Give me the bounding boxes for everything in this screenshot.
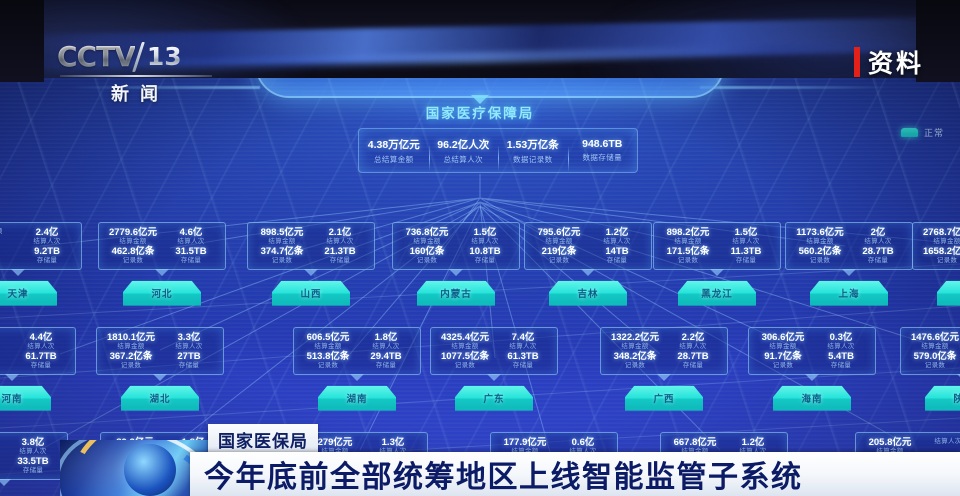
province-name-chip[interactable]: 上海 bbox=[810, 281, 888, 306]
metric-value: 462.8亿条 bbox=[105, 247, 161, 257]
province-node-card[interactable]: 亿元结算金额4.4亿结算人次亿条记录数61.7TB存储量河南 bbox=[0, 327, 76, 411]
cctv-channel-number: 13 bbox=[147, 42, 182, 71]
metric-value: 1476.6亿元 bbox=[907, 333, 960, 343]
headline-bar: 今年底前全部统筹地区上线智能监管子系统 bbox=[190, 452, 960, 496]
province-name-chip[interactable]: 湖南 bbox=[318, 386, 396, 411]
metric-label: 存储量 bbox=[163, 258, 219, 265]
metric-value: 91.7亿条 bbox=[755, 352, 811, 362]
metric-settlement-amount: 736.8亿元结算金额 bbox=[399, 228, 455, 246]
metric-value: 61.7TB bbox=[13, 352, 69, 362]
metric-value: 2.1亿 bbox=[312, 228, 368, 238]
kpi-total-settlement-visits: 96.2亿人次 总结算人次 bbox=[429, 137, 499, 165]
province-name-chip[interactable]: 广东 bbox=[455, 386, 533, 411]
metric-value: 3.8亿 bbox=[5, 438, 61, 448]
metric-settlement-amount: 898.5亿元结算金额 bbox=[254, 228, 310, 246]
metric-settlement-visits: 4.6亿结算人次 bbox=[163, 228, 219, 246]
metric-storage: 61.3TB存储量 bbox=[495, 352, 551, 370]
province-node-card[interactable]: 306.6亿元结算金额0.3亿结算人次91.7亿条记录数5.4TB存储量海南 bbox=[748, 327, 876, 411]
metric-settlement-amount: 795.6亿元结算金额 bbox=[531, 228, 587, 246]
metric-value: 348.2亿条 bbox=[607, 352, 663, 362]
metric-label: 结算金额 bbox=[254, 239, 310, 246]
metric-value: 4.4亿 bbox=[13, 333, 69, 343]
province-node-card[interactable]: 898.5亿元结算金额2.1亿结算人次374.7亿条记录数21.3TB存储量山西 bbox=[247, 222, 375, 306]
province-name-chip[interactable]: 内蒙古 bbox=[417, 281, 495, 306]
metric-settlement-amount: 306.6亿元结算金额 bbox=[755, 333, 811, 351]
metric-label: 结算人次 bbox=[457, 239, 513, 246]
kpi-value: 1.53万亿条 bbox=[499, 137, 567, 152]
metric-label: 存储量 bbox=[850, 258, 906, 265]
province-node-card[interactable]: 2779.6亿元结算金额4.6亿结算人次462.8亿条记录数31.5TB存储量河… bbox=[98, 222, 226, 306]
metric-value: 560.2亿条 bbox=[792, 247, 848, 257]
metric-settlement-visits: 3.8亿结算人次 bbox=[5, 438, 61, 456]
province-name-chip[interactable]: 天津 bbox=[0, 281, 57, 306]
metric-label: 存储量 bbox=[5, 468, 61, 475]
metric-value: 3.3亿 bbox=[161, 333, 217, 343]
metric-value: 33.5TB bbox=[5, 457, 61, 467]
metric-settlement-visits: 1.2亿结算人次 bbox=[589, 228, 645, 246]
metric-value: 513.8亿条 bbox=[300, 352, 356, 362]
metric-label: 结算金额 bbox=[103, 344, 159, 351]
kpi-label: 数据记录数 bbox=[499, 154, 567, 165]
metric-label: 存储量 bbox=[495, 363, 551, 370]
metric-value: 795.6亿元 bbox=[531, 228, 587, 238]
kpi-value: 96.2亿人次 bbox=[430, 137, 498, 152]
kpi-data-record-count: 1.53万亿条 数据记录数 bbox=[498, 137, 568, 165]
metric-label: 结算金额 bbox=[0, 229, 17, 236]
status-normal-label: 正常 bbox=[924, 126, 944, 139]
metric-record-count: 513.8亿条记录数 bbox=[300, 352, 356, 370]
metric-settlement-amount: 2768.7亿元结算金额 bbox=[919, 228, 960, 246]
metric-label: 结算金额 bbox=[660, 239, 716, 246]
metric-value: 1658.2亿条 bbox=[919, 247, 960, 257]
metric-value: 1173.6亿元 bbox=[792, 228, 848, 238]
metric-value: 7.4亿 bbox=[495, 333, 551, 343]
metric-value: 606.5亿元 bbox=[300, 333, 356, 343]
metric-settlement-amount: 1476.6亿元结算金额 bbox=[907, 333, 960, 351]
metric-storage: 33.5TB存储量 bbox=[5, 457, 61, 475]
province-name-chip[interactable]: 江苏 bbox=[937, 281, 960, 306]
province-metrics-box: 2779.6亿元结算金额4.6亿结算人次462.8亿条记录数31.5TB存储量 bbox=[98, 222, 226, 270]
metric-label: 结算金额 bbox=[755, 344, 811, 351]
metric-value: 27TB bbox=[161, 352, 217, 362]
metric-settlement-visits: 2.2亿结算人次 bbox=[665, 333, 721, 351]
metric-label: 结算金额 bbox=[300, 344, 356, 351]
metric-record-count: 亿条记录数 bbox=[0, 457, 3, 475]
metric-label: 存储量 bbox=[718, 258, 774, 265]
metric-value: 14TB bbox=[589, 247, 645, 257]
province-node-card[interactable]: 795.6亿元结算金额1.2亿结算人次219亿条记录数14TB存储量吉林 bbox=[524, 222, 652, 306]
metric-label: 结算金额 bbox=[607, 344, 663, 351]
metric-settlement-visits: 1.5亿结算人次 bbox=[457, 228, 513, 246]
header-wing-right bbox=[700, 86, 890, 89]
metric-label: 结算人次 bbox=[920, 439, 960, 446]
metric-value: 2768.7亿元 bbox=[919, 228, 960, 238]
metric-record-count: 91.7亿条记录数 bbox=[755, 352, 811, 370]
metric-record-count: 462.8亿条记录数 bbox=[105, 247, 161, 265]
status-normal-swatch-icon bbox=[901, 128, 918, 137]
metric-value: 28.7TB bbox=[665, 352, 721, 362]
metric-label: 记录数 bbox=[0, 468, 3, 475]
metric-value: 28.7TB bbox=[850, 247, 906, 257]
metric-settlement-visits: 7.4亿结算人次 bbox=[495, 333, 551, 351]
province-metrics-box: 4325.4亿元结算金额7.4亿结算人次1077.5亿条记录数61.3TB存储量 bbox=[430, 327, 558, 375]
kpi-value: 4.38万亿元 bbox=[360, 137, 428, 152]
metric-label: 记录数 bbox=[399, 258, 455, 265]
province-metrics-box: 795.6亿元结算金额1.2亿结算人次219亿条记录数14TB存储量 bbox=[524, 222, 652, 270]
province-node-card[interactable]: 736.8亿元结算金额1.5亿结算人次160亿条记录数10.8TB存储量内蒙古 bbox=[392, 222, 520, 306]
metric-label: 结算金额 bbox=[531, 239, 587, 246]
metric-settlement-amount: 606.5亿元结算金额 bbox=[300, 333, 356, 351]
headline-text: 今年底前全部统筹地区上线智能监管子系统 bbox=[190, 452, 803, 496]
metric-storage: 29.4TB存储量 bbox=[358, 352, 414, 370]
province-node-card[interactable]: 1810.1亿元结算金额3.3亿结算人次367.2亿条记录数27TB存储量湖北 bbox=[96, 327, 224, 411]
metric-label: 存储量 bbox=[358, 363, 414, 370]
metric-label: 存储量 bbox=[312, 258, 368, 265]
metric-value: 11.3TB bbox=[718, 247, 774, 257]
metric-settlement-visits: 1.8亿结算人次 bbox=[358, 333, 414, 351]
metric-value: 4.6亿 bbox=[163, 228, 219, 238]
metric-value: 2779.6亿元 bbox=[105, 228, 161, 238]
metric-value: 5.4TB bbox=[813, 352, 869, 362]
metric-settlement-amount: 4325.4亿元结算金额 bbox=[437, 333, 493, 351]
metric-label: 结算人次 bbox=[665, 344, 721, 351]
metric-storage: 21.3TB存储量 bbox=[312, 247, 368, 265]
province-node-card[interactable]: 898.2亿元结算金额1.5亿结算人次171.5亿条记录数11.3TB存储量黑龙… bbox=[653, 222, 781, 306]
metric-label: 记录数 bbox=[0, 363, 11, 370]
metric-label: 记录数 bbox=[907, 363, 960, 370]
metric-storage: 31.5TB存储量 bbox=[163, 247, 219, 265]
metric-settlement-amount: 结算金额 bbox=[0, 228, 17, 246]
metric-record-count: 亿条记录数 bbox=[0, 352, 11, 370]
metric-value: 2.2亿 bbox=[665, 333, 721, 343]
metric-label: 存储量 bbox=[589, 258, 645, 265]
metric-value: 1.2亿 bbox=[589, 228, 645, 238]
province-metrics-box: 898.2亿元结算金额1.5亿结算人次171.5亿条记录数11.3TB存储量 bbox=[653, 222, 781, 270]
metric-label: 记录数 bbox=[531, 258, 587, 265]
province-node-card[interactable]: 4325.4亿元结算金额7.4亿结算人次1077.5亿条记录数61.3TB存储量… bbox=[430, 327, 558, 411]
province-name-chip[interactable]: 陕西 bbox=[925, 386, 960, 411]
metric-label: 结算金额 bbox=[437, 344, 493, 351]
province-node-card[interactable]: 606.5亿元结算金额1.8亿结算人次513.8亿条记录数29.4TB存储量湖南 bbox=[293, 327, 421, 411]
metric-value: 160亿条 bbox=[399, 247, 455, 257]
root-caret-icon bbox=[471, 95, 489, 104]
metric-label: 记录数 bbox=[437, 363, 493, 370]
metric-settlement-amount: 898.2亿元结算金额 bbox=[660, 228, 716, 246]
source-tag-label: 资料 bbox=[868, 44, 924, 80]
metric-settlement-amount: 2779.6亿元结算金额 bbox=[105, 228, 161, 246]
province-metrics-box: 606.5亿元结算金额1.8亿结算人次513.8亿条记录数29.4TB存储量 bbox=[293, 327, 421, 375]
metric-label: 记录数 bbox=[607, 363, 663, 370]
metric-label: 存储量 bbox=[19, 258, 75, 265]
metric-value: 亿元 bbox=[0, 438, 3, 448]
status-legend: 正常 bbox=[901, 126, 944, 139]
metric-settlement-visits: 4.4亿结算人次 bbox=[13, 333, 69, 351]
metric-label: 结算人次 bbox=[13, 344, 69, 351]
metric-label: 结算人次 bbox=[5, 449, 61, 456]
metric-value: 898.2亿元 bbox=[660, 228, 716, 238]
province-metrics-box: 亿元结算金额3.8亿结算人次亿条记录数33.5TB存储量 bbox=[0, 432, 68, 480]
metric-label: 结算金额 bbox=[105, 239, 161, 246]
metric-label: 记录数 bbox=[300, 363, 356, 370]
metric-value: 亿条 bbox=[0, 457, 3, 467]
metric-label: 记录数 bbox=[105, 258, 161, 265]
kpi-value: 948.6TB bbox=[569, 138, 637, 150]
province-name-chip[interactable]: 山西 bbox=[272, 281, 350, 306]
source-tag-bar-icon bbox=[854, 47, 860, 77]
metric-value: 205.8亿元 bbox=[862, 438, 918, 448]
broadcast-screenshot: 全国医保信息平台服务监控 国家医疗保障局 4.38万亿元 总结算金额 96.2亿… bbox=[0, 0, 960, 496]
metric-storage: 28.7TB存储量 bbox=[665, 352, 721, 370]
metric-label: 结算金额 bbox=[0, 449, 3, 456]
metric-label: 结算人次 bbox=[495, 344, 551, 351]
metric-record-count: 560.2亿条记录数 bbox=[792, 247, 848, 265]
province-node-card[interactable]: 1173.6亿元结算金额2亿结算人次560.2亿条记录数28.7TB存储量上海 bbox=[785, 222, 913, 306]
metric-value: 898.5亿元 bbox=[254, 228, 310, 238]
cctv-underline bbox=[60, 75, 212, 77]
source-tag: 资料 bbox=[854, 44, 924, 80]
metric-label: 记录数 bbox=[660, 258, 716, 265]
metric-value: 2亿 bbox=[850, 228, 906, 238]
metric-settlement-visits: 2.1亿结算人次 bbox=[312, 228, 368, 246]
metric-value: 1810.1亿元 bbox=[103, 333, 159, 343]
kpi-total-settlement-amount: 4.38万亿元 总结算金额 bbox=[359, 137, 429, 165]
metric-storage: 28.7TB存储量 bbox=[850, 247, 906, 265]
metric-record-count: 219亿条记录数 bbox=[531, 247, 587, 265]
metric-storage: 27TB存储量 bbox=[161, 352, 217, 370]
metric-value: 亿条 bbox=[0, 352, 11, 362]
metric-settlement-visits: 2.4亿结算人次 bbox=[19, 228, 75, 246]
metric-value: 736.8亿元 bbox=[399, 228, 455, 238]
metric-settlement-visits: 1.5亿结算人次 bbox=[718, 228, 774, 246]
metric-label: 结算人次 bbox=[312, 239, 368, 246]
metric-record-count: 1077.5亿条记录数 bbox=[437, 352, 493, 370]
province-node-card[interactable]: 结算金额2.4亿结算人次记录数9.2TB存储量天津 bbox=[0, 222, 82, 306]
metric-label: 记录数 bbox=[103, 363, 159, 370]
metric-value: 1.3亿 bbox=[365, 438, 421, 448]
metric-value: 1.5亿 bbox=[718, 228, 774, 238]
metric-value: 1.2亿 bbox=[725, 438, 781, 448]
kpi-strip: 4.38万亿元 总结算金额 96.2亿人次 总结算人次 1.53万亿条 数据记录… bbox=[358, 128, 638, 173]
metric-settlement-visits: 3.3亿结算人次 bbox=[161, 333, 217, 351]
metric-label: 结算人次 bbox=[358, 344, 414, 351]
metric-value: 579.0亿条 bbox=[907, 352, 960, 362]
kpi-label: 总结算人次 bbox=[430, 154, 498, 165]
studio-pillar-left bbox=[0, 0, 44, 82]
province-name-chip[interactable]: 河北 bbox=[123, 281, 201, 306]
metric-value: 1322.2亿元 bbox=[607, 333, 663, 343]
metric-settlement-amount: 亿元结算金额 bbox=[0, 438, 3, 456]
metric-label: 结算人次 bbox=[850, 239, 906, 246]
metric-value: 9.2TB bbox=[19, 247, 75, 257]
swirl-globe-icon bbox=[124, 444, 176, 496]
metric-value: 31.5TB bbox=[163, 247, 219, 257]
province-name-chip[interactable]: 黑龙江 bbox=[678, 281, 756, 306]
province-metrics-box: 1322.2亿元结算金额2.2亿结算人次348.2亿条记录数28.7TB存储量 bbox=[600, 327, 728, 375]
metric-label: 结算金额 bbox=[907, 344, 960, 351]
kpi-label: 总结算金额 bbox=[360, 154, 428, 165]
metric-settlement-amount: 1173.6亿元结算金额 bbox=[792, 228, 848, 246]
province-metrics-box: 亿元结算金额4.4亿结算人次亿条记录数61.7TB存储量 bbox=[0, 327, 76, 375]
province-name-chip[interactable]: 湖北 bbox=[121, 386, 199, 411]
province-metrics-box: 1810.1亿元结算金额3.3亿结算人次367.2亿条记录数27TB存储量 bbox=[96, 327, 224, 375]
metric-settlement-visits: 2亿结算人次 bbox=[850, 228, 906, 246]
metric-record-count: 171.5亿条记录数 bbox=[660, 247, 716, 265]
metric-label: 结算金额 bbox=[792, 239, 848, 246]
metric-label: 记录数 bbox=[0, 248, 17, 255]
cctv-logo: CCTV 13 新闻 bbox=[57, 40, 212, 106]
metric-value: 10.8TB bbox=[457, 247, 513, 257]
metric-record-count: 348.2亿条记录数 bbox=[607, 352, 663, 370]
metric-label: 记录数 bbox=[792, 258, 848, 265]
metric-record-count: 1658.2亿条记录数 bbox=[919, 247, 960, 265]
metric-record-count: 367.2亿条记录数 bbox=[103, 352, 159, 370]
metric-value: 367.2亿条 bbox=[103, 352, 159, 362]
metric-record-count: 160亿条记录数 bbox=[399, 247, 455, 265]
metric-label: 结算人次 bbox=[813, 344, 869, 351]
metric-label: 结算金额 bbox=[0, 344, 11, 351]
province-name-chip[interactable]: 广西 bbox=[625, 386, 703, 411]
metric-settlement-amount: 1810.1亿元结算金额 bbox=[103, 333, 159, 351]
province-name-chip[interactable]: 河南 bbox=[0, 386, 51, 411]
metric-value: 1.5亿 bbox=[457, 228, 513, 238]
metric-settlement-amount: 亿元结算金额 bbox=[0, 333, 11, 351]
metric-label: 结算人次 bbox=[718, 239, 774, 246]
province-node-card[interactable]: 亿元结算金额3.8亿结算人次亿条记录数33.5TB存储量 bbox=[0, 432, 68, 480]
province-node-card[interactable]: 1476.6亿元结算金额结算人次579.0亿条记录数存储量陕西 bbox=[900, 327, 960, 411]
metric-label: 结算金额 bbox=[919, 239, 960, 246]
cctv-channel-name: 新闻 bbox=[57, 80, 212, 106]
province-metrics-box: 306.6亿元结算金额0.3亿结算人次91.7亿条记录数5.4TB存储量 bbox=[748, 327, 876, 375]
metric-storage: 61.7TB存储量 bbox=[13, 352, 69, 370]
metric-value: 1.8亿 bbox=[358, 333, 414, 343]
metric-label: 记录数 bbox=[919, 258, 960, 265]
metric-value: 亿元 bbox=[0, 333, 11, 343]
dashboard-header-banner: 全国医保信息平台服务监控 bbox=[255, 78, 725, 98]
province-metrics-box: 2768.7亿元结算金额结算人次1658.2亿条记录数存储量 bbox=[912, 222, 960, 270]
metric-label: 记录数 bbox=[254, 258, 310, 265]
province-name-chip[interactable]: 海南 bbox=[773, 386, 851, 411]
metric-storage: 9.2TB存储量 bbox=[19, 247, 75, 265]
metric-value: 0.3亿 bbox=[813, 333, 869, 343]
kpi-data-storage: 948.6TB 数据存储量 bbox=[568, 138, 638, 163]
metric-label: 结算人次 bbox=[19, 239, 75, 246]
metric-record-count: 579.0亿条记录数 bbox=[907, 352, 960, 370]
province-metrics-box: 898.5亿元结算金额2.1亿结算人次374.7亿条记录数21.3TB存储量 bbox=[247, 222, 375, 270]
metric-record-count: 374.7亿条记录数 bbox=[254, 247, 310, 265]
metric-label: 结算人次 bbox=[163, 239, 219, 246]
cctv-wordmark: CCTV bbox=[57, 40, 135, 73]
province-metrics-box: 736.8亿元结算金额1.5亿结算人次160亿条记录数10.8TB存储量 bbox=[392, 222, 520, 270]
province-node-card[interactable]: 2768.7亿元结算金额结算人次1658.2亿条记录数存储量江苏 bbox=[912, 222, 960, 306]
metric-value: 171.5亿条 bbox=[660, 247, 716, 257]
metric-label: 记录数 bbox=[755, 363, 811, 370]
metric-label: 存储量 bbox=[813, 363, 869, 370]
province-metrics-box: 1476.6亿元结算金额结算人次579.0亿条记录数存储量 bbox=[900, 327, 960, 375]
metric-label: 存储量 bbox=[665, 363, 721, 370]
metric-value: 29.4TB bbox=[358, 352, 414, 362]
kpi-label: 数据存储量 bbox=[569, 152, 637, 163]
metric-label: 结算人次 bbox=[589, 239, 645, 246]
metric-label: 存储量 bbox=[161, 363, 217, 370]
metric-value: 177.9亿元 bbox=[497, 438, 553, 448]
metric-value: 21.3TB bbox=[312, 247, 368, 257]
metric-value: 374.7亿条 bbox=[254, 247, 310, 257]
metric-value: 219亿条 bbox=[531, 247, 587, 257]
metric-value: 61.3TB bbox=[495, 352, 551, 362]
metric-storage: 10.8TB存储量 bbox=[457, 247, 513, 265]
metric-storage: 14TB存储量 bbox=[589, 247, 645, 265]
metric-value: 306.6亿元 bbox=[755, 333, 811, 343]
metric-value: 2.4亿 bbox=[19, 228, 75, 238]
province-metrics-box: 结算金额2.4亿结算人次记录数9.2TB存储量 bbox=[0, 222, 82, 270]
metric-value: 667.8亿元 bbox=[667, 438, 723, 448]
metric-label: 结算金额 bbox=[399, 239, 455, 246]
metric-value: 4325.4亿元 bbox=[437, 333, 493, 343]
metric-settlement-amount: 1322.2亿元结算金额 bbox=[607, 333, 663, 351]
metric-value: 1077.5亿条 bbox=[437, 352, 493, 362]
metric-settlement-visits: 0.3亿结算人次 bbox=[813, 333, 869, 351]
metric-label: 存储量 bbox=[13, 363, 69, 370]
metric-record-count: 记录数 bbox=[0, 247, 17, 265]
province-name-chip[interactable]: 吉林 bbox=[549, 281, 627, 306]
metric-storage: 5.4TB存储量 bbox=[813, 352, 869, 370]
metric-label: 结算人次 bbox=[161, 344, 217, 351]
metric-value: 0.6亿 bbox=[555, 438, 611, 448]
metric-label: 存储量 bbox=[457, 258, 513, 265]
province-node-card[interactable]: 1322.2亿元结算金额2.2亿结算人次348.2亿条记录数28.7TB存储量广… bbox=[600, 327, 728, 411]
province-metrics-box: 1173.6亿元结算金额2亿结算人次560.2亿条记录数28.7TB存储量 bbox=[785, 222, 913, 270]
metric-storage: 11.3TB存储量 bbox=[718, 247, 774, 265]
